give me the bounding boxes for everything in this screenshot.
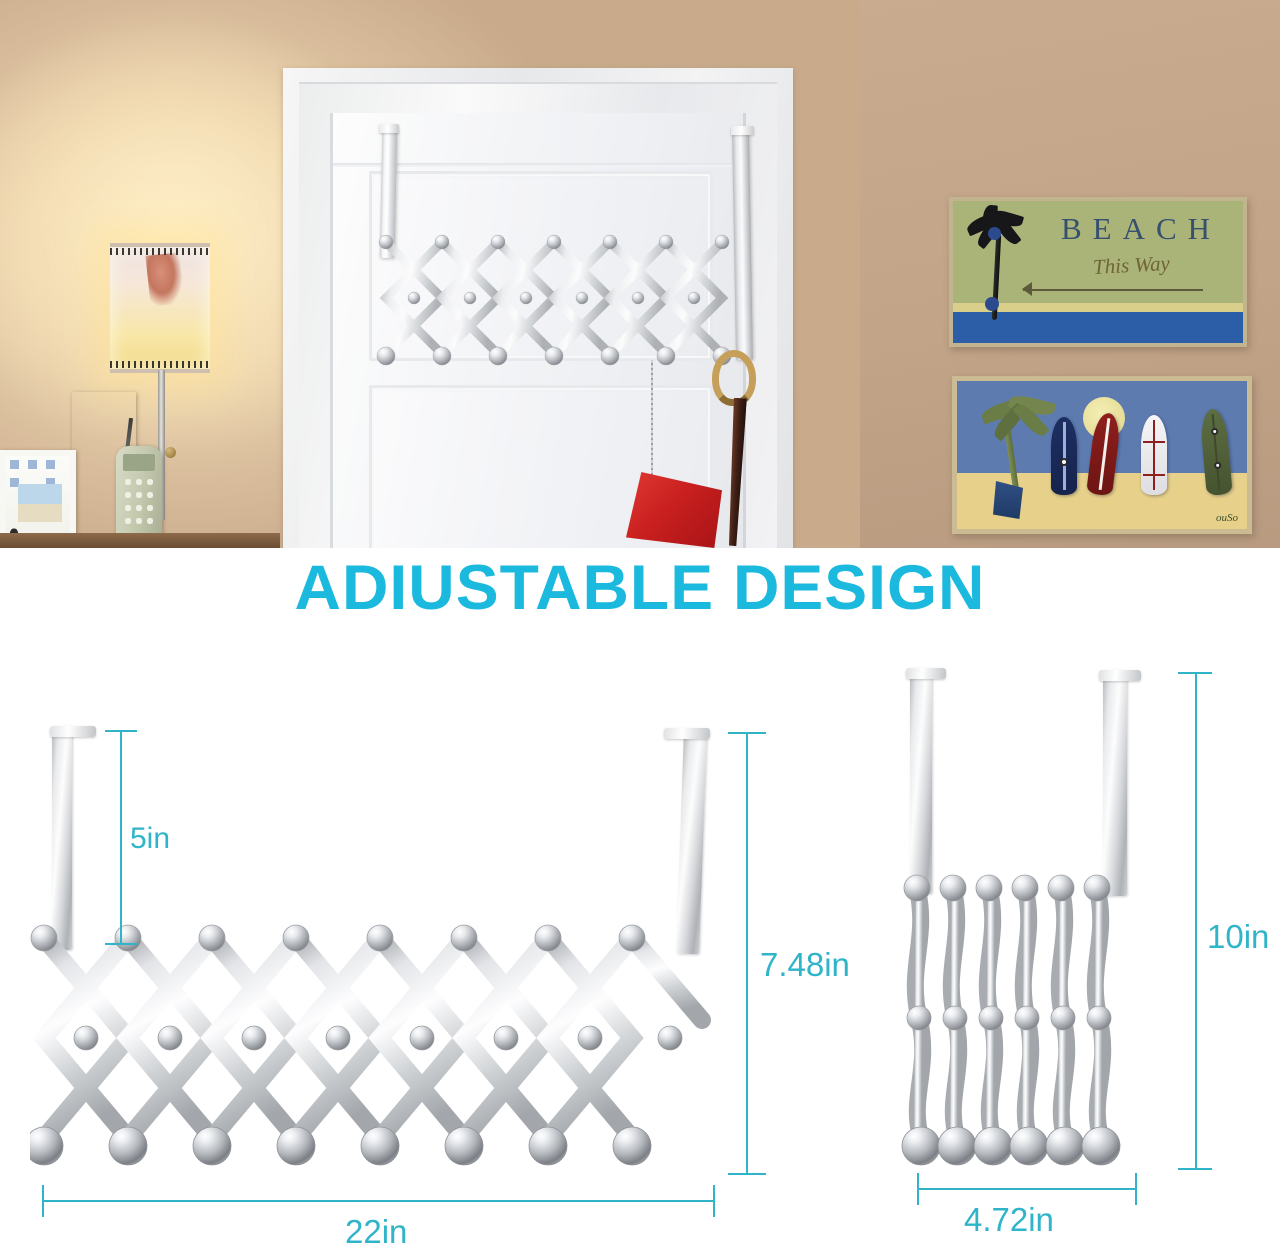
dim-22in-line [42, 1200, 714, 1202]
lifestyle-photo: BEACH This Way [0, 0, 1280, 548]
table-lamp-shade [110, 243, 210, 373]
dim-10in-cap-bottom [1178, 1168, 1212, 1170]
lampshade-surfer-image [145, 253, 184, 308]
product-infographic: BEACH This Way [0, 0, 1280, 1250]
lampshade-stitching-top [110, 248, 210, 255]
dim-22in-label: 22in [345, 1213, 407, 1251]
collapsed-hanger-arm-left [910, 672, 932, 894]
beach-ball [985, 297, 999, 311]
beach-sign-heading: BEACH [1061, 211, 1221, 247]
phone-keypad [123, 476, 155, 534]
page-title: ADIUSTABLE DESIGN [0, 557, 1280, 620]
dim-472in-cap-right [1135, 1173, 1137, 1205]
lampshade-stitching-bottom [110, 361, 210, 368]
hanger-arm-left-cap [379, 124, 399, 133]
table-lamp-switch [165, 447, 176, 458]
surfboard-3 [1141, 415, 1167, 495]
dim-5in-label: 5in [130, 822, 170, 856]
dim-5in-cap-bottom [105, 943, 137, 945]
table-surface [0, 533, 280, 548]
collapsed-hanger-arm-right-cap [1099, 670, 1141, 681]
surfboard-1 [1051, 417, 1077, 495]
wall-art-surfboards: ouSo [952, 376, 1252, 534]
expanded-hanger-arm-right-cap [664, 728, 710, 739]
surfboard-4 [1199, 408, 1232, 496]
dimension-diagram: 5in 7.48in 22in [0, 640, 1280, 1250]
dim-22in-cap-right [713, 1185, 715, 1217]
wall-art-beach-sign: BEACH This Way [949, 197, 1247, 347]
collapsed-hanger-arm-left-cap [906, 668, 946, 679]
rack-on-door [372, 228, 742, 378]
dim-10in-line [1195, 672, 1197, 1169]
expanded-rack-lattice [30, 920, 750, 1170]
painting-signature: ouSo [1216, 512, 1238, 524]
gold-loop-hardware [712, 350, 756, 406]
beach-sign-script: This Way [1092, 251, 1170, 280]
expanded-hanger-arm-left-cap [50, 726, 96, 737]
dim-10in-label: 10in [1207, 918, 1269, 956]
handbag-chain [651, 360, 653, 480]
palm-coconut [988, 227, 1001, 240]
dim-748in-label: 7.48in [760, 946, 850, 984]
rack-on-door-svg [372, 228, 742, 378]
picture-photo [18, 484, 62, 522]
dim-748in-line [746, 732, 748, 1174]
collapsed-hanger-arm-right [1103, 674, 1127, 896]
hanger-arm-right-cap [731, 126, 754, 135]
dim-472in-label: 4.72in [964, 1201, 1054, 1239]
collapsed-rack-lattice [895, 870, 1145, 1170]
phone-screen [123, 454, 155, 471]
beach-sign-arrow-icon [1023, 289, 1203, 291]
dim-5in-line [120, 730, 122, 944]
beach-chair [993, 481, 1023, 519]
dim-748in-cap-bottom [728, 1173, 766, 1175]
dim-472in-line [917, 1188, 1136, 1190]
expanded-hanger-arm-left [52, 730, 72, 950]
